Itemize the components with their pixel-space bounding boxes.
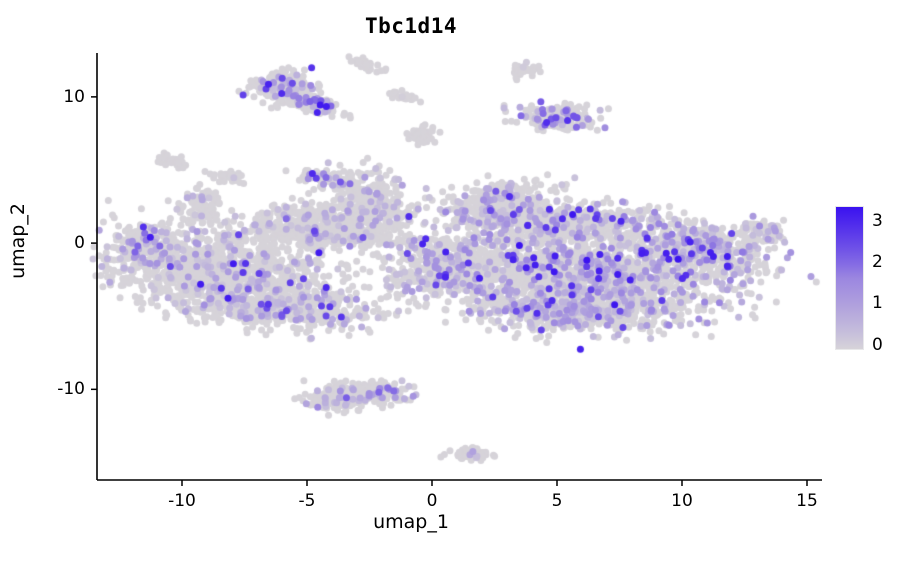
x-axis-tick-label: 10 — [671, 491, 693, 511]
x-axis-tick-label: 15 — [796, 491, 818, 511]
colorbar-tick-label: 0 — [872, 335, 883, 355]
x-axis-label: umap_1 — [0, 511, 822, 533]
umap-feature-plot-figure: Tbc1d14 -10-5051015100-10 umap_1 umap_2 … — [0, 0, 911, 562]
x-axis-tick-label: 5 — [552, 491, 563, 511]
x-axis-tick-label: -5 — [299, 491, 316, 511]
colorbar-tick-label: 1 — [872, 293, 883, 313]
axes-overlay — [0, 0, 911, 562]
axis-spines — [97, 53, 822, 480]
x-axis-tick-label: 0 — [427, 491, 438, 511]
colorbar-tick-label: 2 — [872, 252, 883, 272]
y-axis-tick-label: 10 — [25, 87, 85, 107]
y-axis-tick-label: -10 — [25, 379, 85, 399]
x-axis-tick-label: -10 — [168, 491, 196, 511]
axis-ticks — [91, 97, 807, 486]
y-axis-label: umap_2 — [7, 161, 29, 321]
colorbar-gradient — [836, 207, 863, 349]
colorbar-tick-label: 3 — [872, 211, 883, 231]
y-axis-tick-label: 0 — [25, 233, 85, 253]
